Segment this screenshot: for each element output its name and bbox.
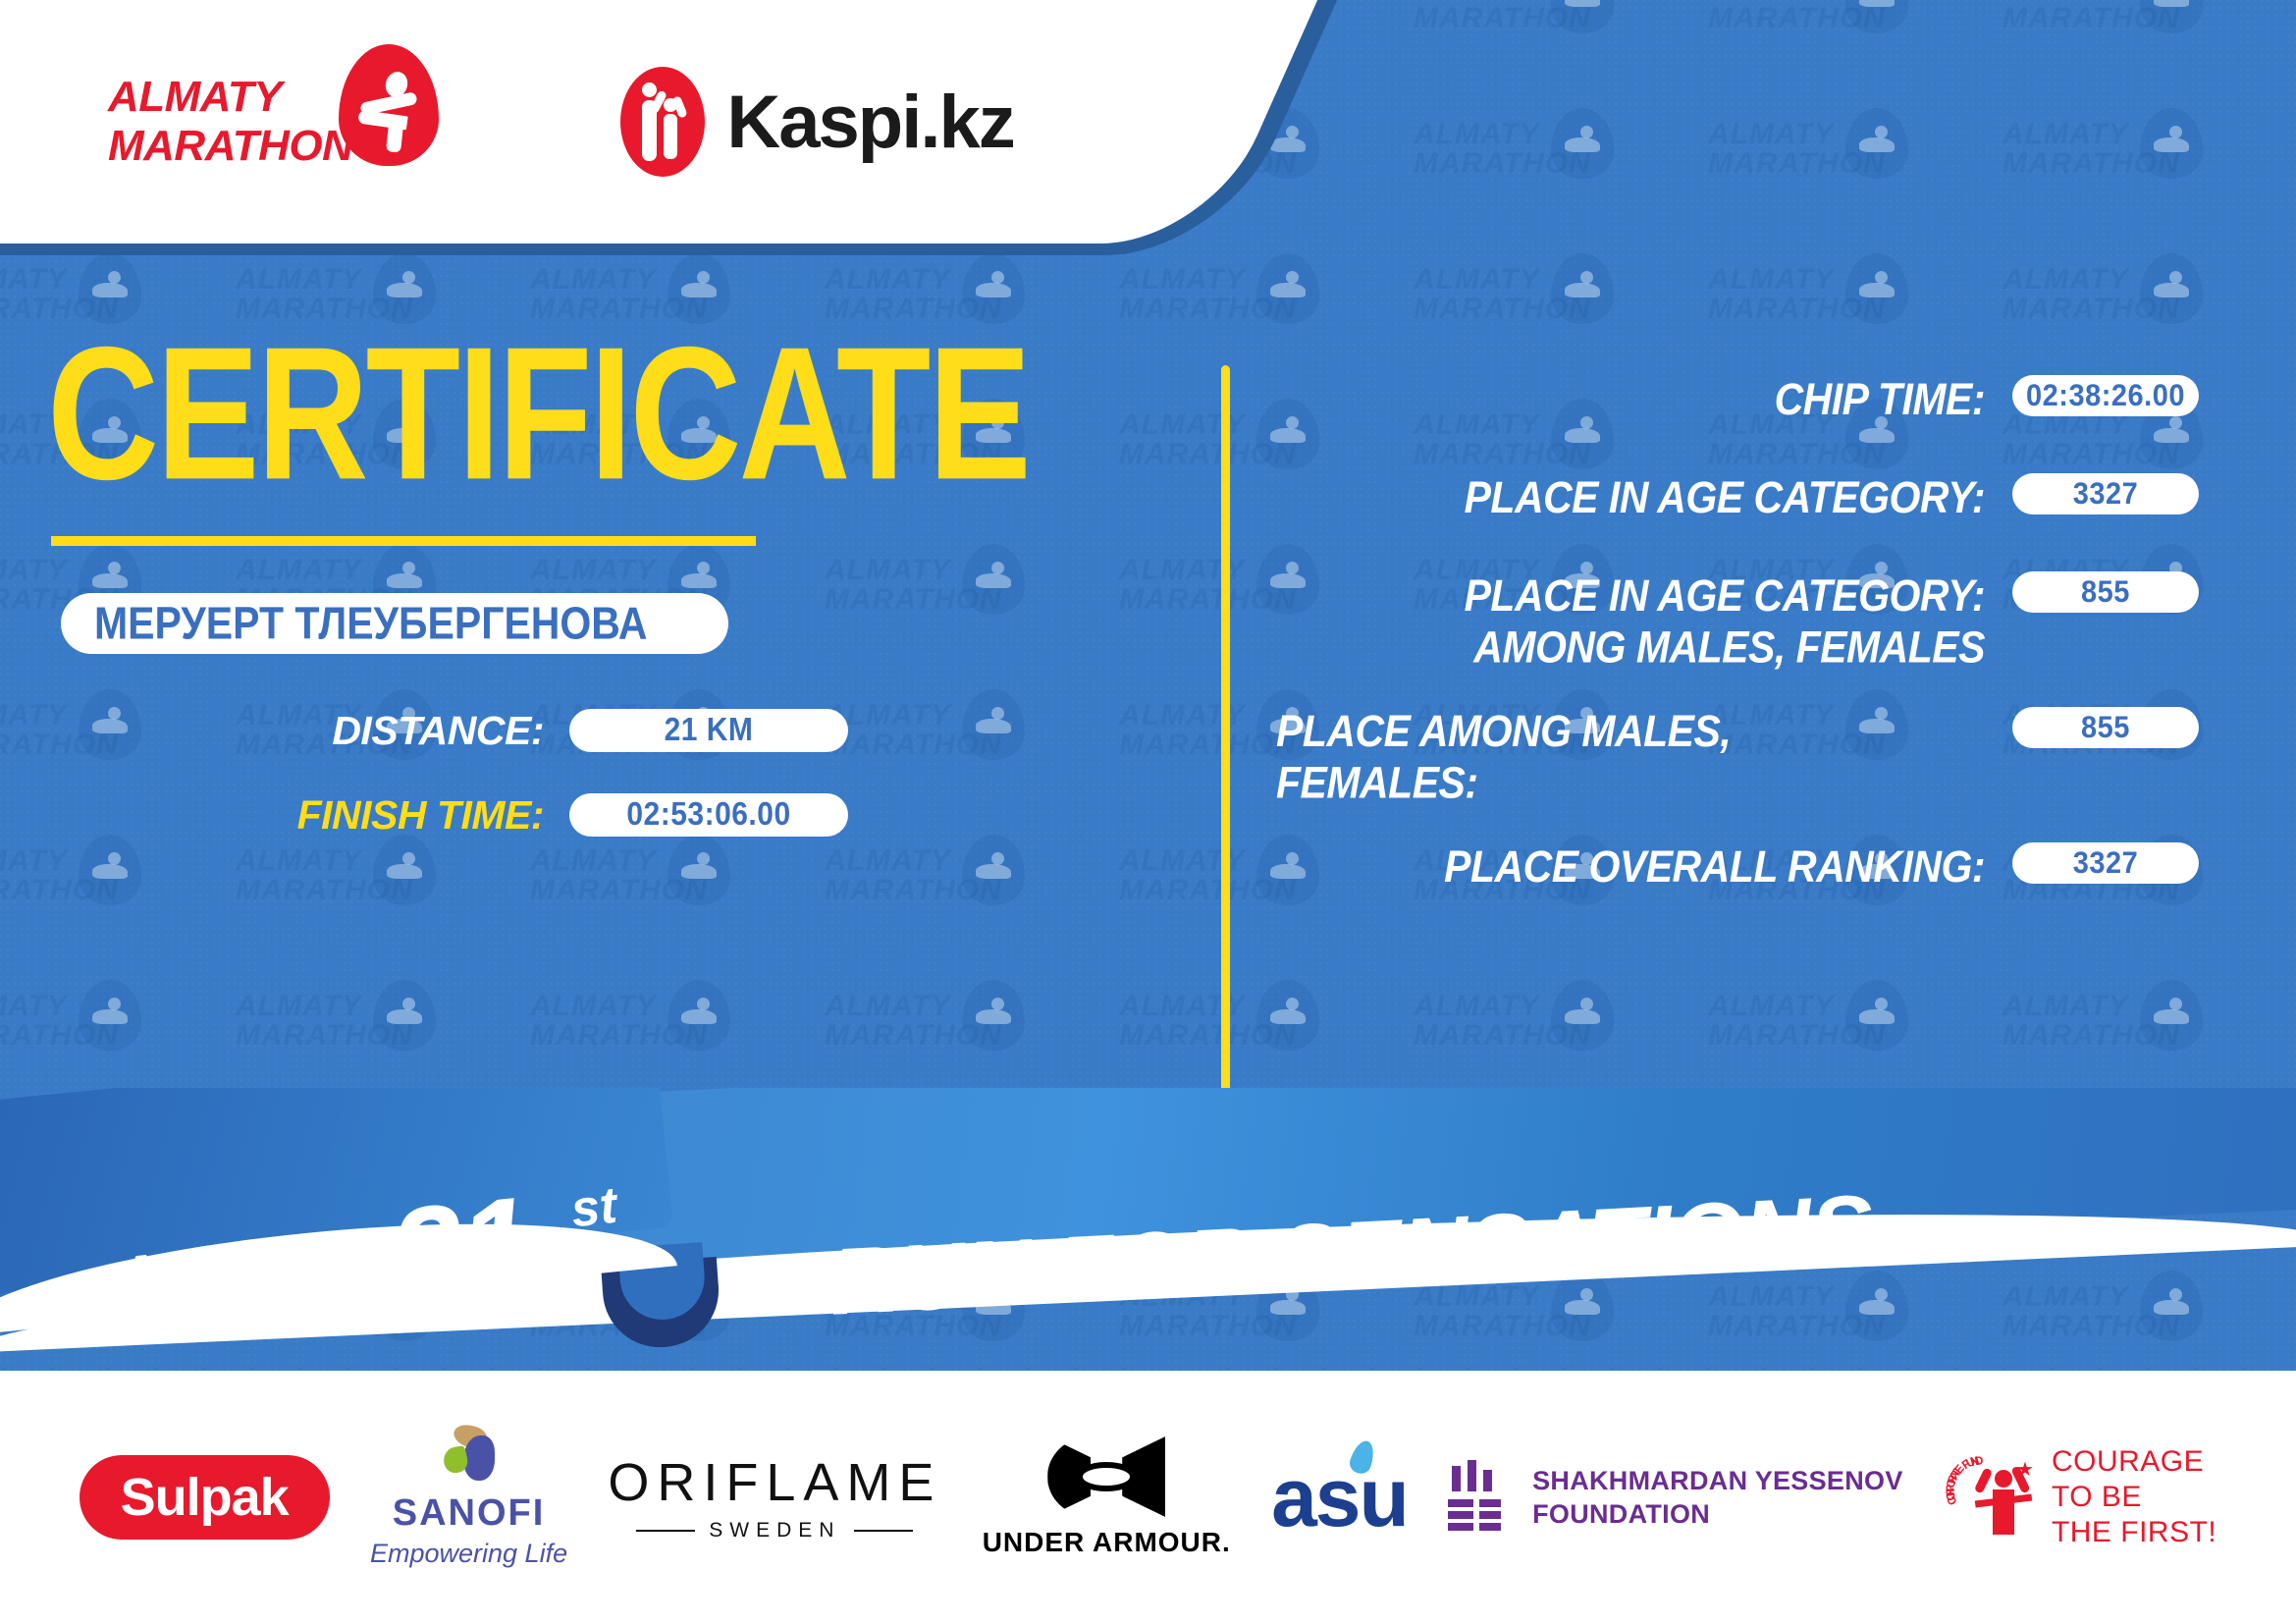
place-among-gender-row: PLACE AMONG MALES, FEMALES: 855 [1276,705,2199,799]
place-age-category-gender-row: PLACE IN AGE CATEGORY: AMONG MALES, FEMA… [1276,569,2199,664]
place-age-category-label: PLACE IN AGE CATEGORY: [1276,471,2012,523]
event-ribbon: APRIL 21 st RUN FOR SENSATIONS [0,1088,2296,1392]
yessenov-line2: FOUNDATION [1532,1497,1903,1531]
sponsor-asu: asu [1271,1450,1408,1545]
place-age-category-gender-label: PLACE IN AGE CATEGORY: AMONG MALES, FEMA… [1276,569,2012,674]
page-title: CERTIFICATE [47,324,1158,504]
chip-time-row: CHIP TIME: 02:38:26.00 [1276,373,2199,430]
event-day: 21 [383,1167,536,1329]
results-stats-column: CHIP TIME: 02:38:26.00 PLACE IN AGE CATE… [1276,373,2199,939]
place-overall-ranking-row: PLACE OVERALL RANKING: 3327 [1276,840,2199,897]
chip-time-label: CHIP TIME: [1276,373,2012,425]
courage-line3: THE FIRST! [2052,1515,2216,1550]
distance-value: 21 KM [665,712,754,748]
place-age-category-value-pill: 3327 [2012,473,2199,514]
running-figure-drop-icon [339,44,439,166]
sponsor-under-armour: UNDER ARMOUR. [983,1436,1231,1558]
sponsor-yessenov-foundation: SHAKHMARDAN YESSENOV FOUNDATION [1448,1460,1903,1535]
place-among-gender-value-pill: 855 [2012,707,2199,748]
finish-time-value-pill: 02:53:06.00 [569,793,848,837]
chip-time-value-pill: 02:38:26.00 [2012,375,2199,416]
under-armour-logo-icon [1047,1436,1165,1517]
left-stat-rows: DISTANCE: 21 KM FINISH TIME: 02:53:06.00 [0,703,1158,842]
almaty-logo-line1: ALMATY [108,73,352,122]
chip-time-value: 02:38:26.00 [2026,378,2185,413]
title-underline-rule [51,536,756,546]
sanofi-tagline: Empowering Life [370,1539,567,1569]
certificate-canvas: ALMATYMARATHONALMATYMARATHONALMATYMARATH… [0,0,2296,1624]
place-overall-ranking-value-pill: 3327 [2012,842,2199,884]
sponsor-footer: Sulpak SANOFI Empowering Life ORIFLAME S… [0,1371,2296,1624]
place-among-gender-label-line1: PLACE AMONG MALES, [1276,705,1985,757]
place-overall-ranking-value: 3327 [2073,845,2139,881]
courage-line1: COURAGE [2052,1444,2216,1480]
event-day-suffix: st [568,1176,619,1240]
vertical-divider [1221,365,1230,1102]
yessenov-line1: SHAKHMARDAN YESSENOV [1532,1464,1903,1497]
kaspi-logo: Kaspi.kz [620,67,1013,177]
sanofi-leaf-icon [438,1426,501,1485]
sponsor-sanofi: SANOFI Empowering Life [370,1426,567,1569]
certificate-left-column: CERTIFICATE МЕРУЕРТ ТЛЕУБЕРГЕНОВА DISTAN… [0,324,1158,872]
asu-wordmark: asu [1271,1450,1408,1545]
almaty-logo-line2: MARATHON [108,122,352,171]
sponsor-sulpak: Sulpak [80,1455,330,1540]
asu-text: asu [1271,1451,1408,1543]
place-age-category-gender-label-line2: AMONG MALES, FEMALES [1276,622,1985,674]
oriflame-wordmark: ORIFLAME [608,1452,941,1513]
finish-time-label: FINISH TIME: [0,792,569,839]
finish-time-row: FINISH TIME: 02:53:06.00 [0,787,1158,842]
sulpak-wordmark: Sulpak [80,1455,330,1540]
place-age-category-gender-label-line1: PLACE IN AGE CATEGORY: [1276,569,1985,622]
place-age-category-gender-value: 855 [2081,574,2130,610]
oriflame-rule-left [636,1530,695,1532]
courage-line2: TO BE [2052,1480,2216,1515]
distance-label: DISTANCE: [0,708,569,754]
distance-row: DISTANCE: 21 KM [0,703,1158,758]
kaspi-wordmark: Kaspi.kz [726,80,1013,165]
oriflame-tagline: SWEDEN [709,1519,840,1543]
participant-name-field: МЕРУЕРТ ТЛЕУБЕРГЕНОВА [61,593,728,654]
place-age-category-row: PLACE IN AGE CATEGORY: 3327 [1276,471,2199,528]
participant-name-value: МЕРУЕРТ ТЛЕУБЕРГЕНОВА [94,598,647,650]
sponsor-courage-to-be-the-first: CORPORATE FUND ★ COURAGE TO BE THE FIRST… [1944,1444,2216,1550]
place-among-gender-value: 855 [2081,710,2130,745]
place-among-gender-label-line2: FEMALES: [1276,757,1985,809]
almaty-marathon-logo: ALMATY MARATHON [108,48,439,195]
header: ALMATY MARATHON Kaspi.kz [0,0,1394,283]
oriflame-rule-right [854,1530,913,1532]
yessenov-bars-icon [1448,1460,1509,1535]
place-overall-ranking-label: PLACE OVERALL RANKING: [1276,840,2012,893]
kaspi-people-circle-icon [620,67,705,177]
place-age-category-value: 3327 [2073,476,2139,512]
place-age-category-gender-value-pill: 855 [2012,571,2199,613]
sponsor-oriflame: ORIFLAME SWEDEN [608,1452,941,1543]
under-armour-wordmark: UNDER ARMOUR. [983,1527,1231,1558]
courage-figure-icon: CORPORATE FUND ★ [1944,1450,2038,1544]
place-among-gender-label: PLACE AMONG MALES, FEMALES: [1276,705,2012,809]
finish-time-value: 02:53:06.00 [626,796,790,833]
sanofi-wordmark: SANOFI [370,1492,567,1535]
distance-value-pill: 21 KM [569,709,848,752]
